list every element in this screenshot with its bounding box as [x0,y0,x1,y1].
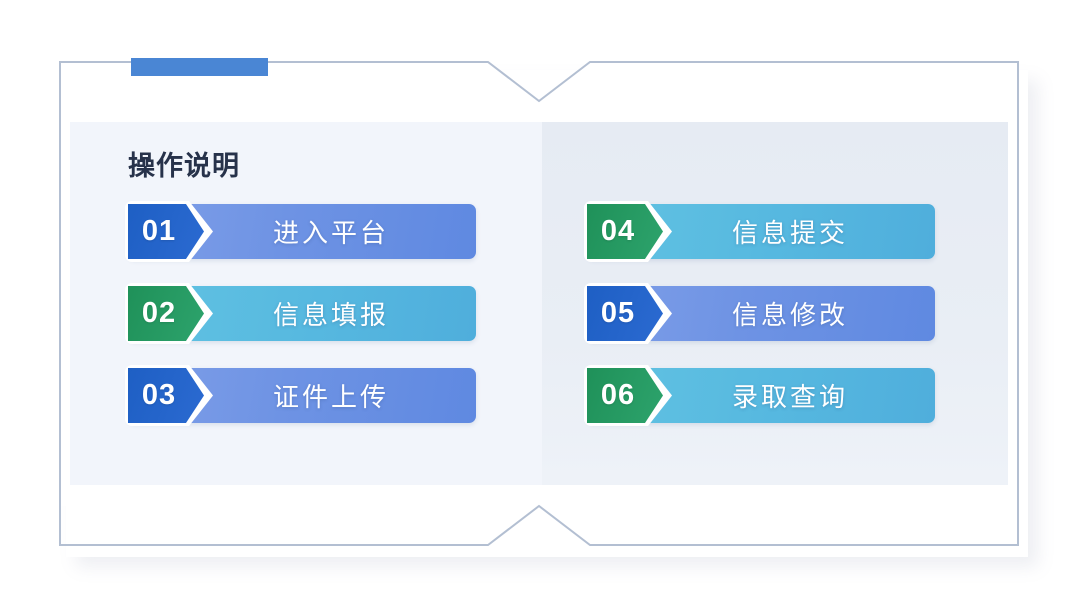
panel-right-half: 04 信息提交 05 信息修改 06 录取查询 [542,122,1008,485]
step-number: 03 [142,381,176,410]
step-label: 进入平台 [204,213,476,250]
instructions-panel: 操作说明 01 进入平台 02 信息填报 [70,122,1008,485]
step-number: 04 [601,217,635,246]
step-item-04[interactable]: 04 信息提交 [587,204,935,259]
step-item-05[interactable]: 05 信息修改 [587,286,935,341]
step-number: 06 [601,381,635,410]
step-label: 信息提交 [663,213,935,250]
step-number: 05 [601,299,635,328]
step-number: 01 [142,217,176,246]
step-item-06[interactable]: 06 录取查询 [587,368,935,423]
step-label: 证件上传 [204,377,476,414]
step-list-left: 01 进入平台 02 信息填报 03 证件上传 [128,204,476,423]
panel-left-half: 操作说明 01 进入平台 02 信息填报 [70,122,542,485]
step-label: 信息填报 [204,295,476,332]
step-label: 录取查询 [663,377,935,414]
step-list-right: 04 信息提交 05 信息修改 06 录取查询 [587,204,935,423]
step-number: 02 [142,299,176,328]
step-item-03[interactable]: 03 证件上传 [128,368,476,423]
top-accent-tab [131,58,268,76]
step-item-01[interactable]: 01 进入平台 [128,204,476,259]
page-title: 操作说明 [128,144,240,183]
step-item-02[interactable]: 02 信息填报 [128,286,476,341]
step-label: 信息修改 [663,295,935,332]
